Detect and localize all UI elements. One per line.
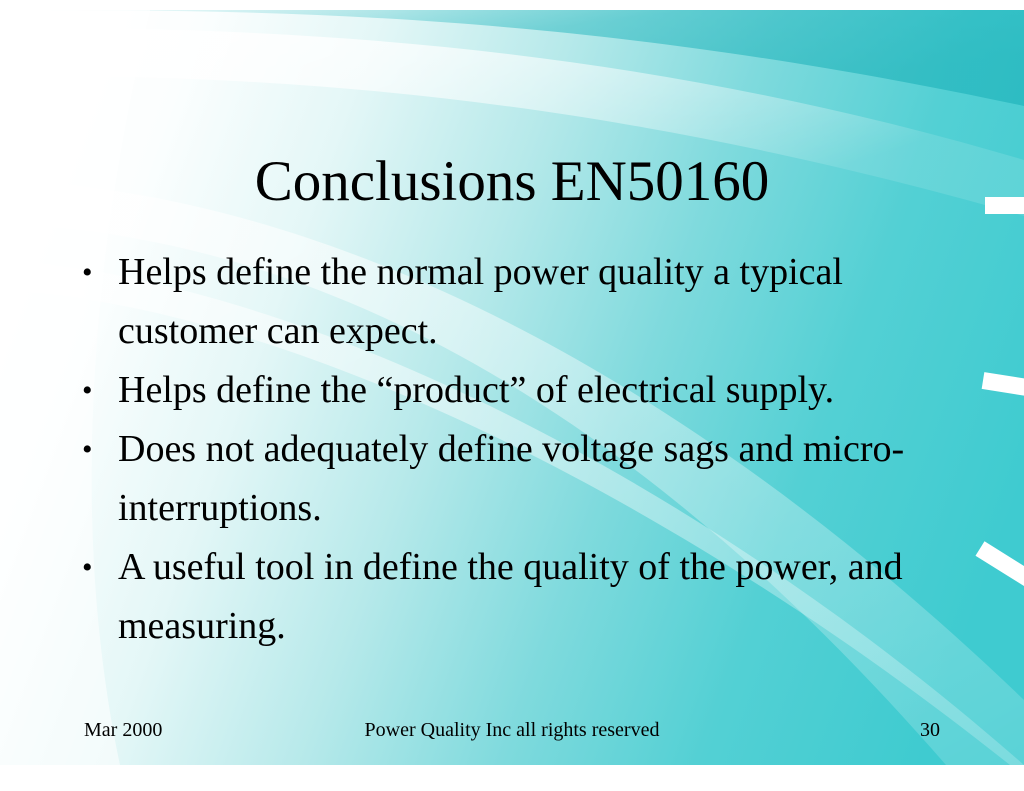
slide-title: Conclusions EN50160	[0, 148, 1024, 216]
bullet-item-4: • A useful tool in define the quality of…	[72, 538, 972, 656]
bullet-marker-icon: •	[72, 243, 118, 302]
bullet-text-4: A useful tool in define the quality of t…	[118, 538, 938, 656]
footer-page-number: 30	[920, 715, 940, 745]
footer-copyright: Power Quality Inc all rights reserved	[0, 715, 1024, 745]
bullet-text-3: Does not adequately define voltage sags …	[118, 420, 938, 538]
bullet-text-2: Helps define the “product” of electrical…	[118, 361, 938, 420]
bullet-marker-icon: •	[72, 420, 118, 479]
bullet-item-2: • Helps define the “product” of electric…	[72, 361, 972, 420]
bullet-marker-icon: •	[72, 361, 118, 420]
bullet-item-1: • Helps define the normal power quality …	[72, 243, 972, 361]
bullet-item-3: • Does not adequately define voltage sag…	[72, 420, 972, 538]
bullet-marker-icon: •	[72, 538, 118, 597]
slide-bullet-list: • Helps define the normal power quality …	[72, 243, 972, 656]
bullet-text-1: Helps define the normal power quality a …	[118, 243, 938, 361]
slide-footer: Mar 2000 Power Quality Inc all rights re…	[0, 715, 1024, 745]
presentation-slide: Conclusions EN50160 • Helps define the n…	[0, 0, 1024, 791]
